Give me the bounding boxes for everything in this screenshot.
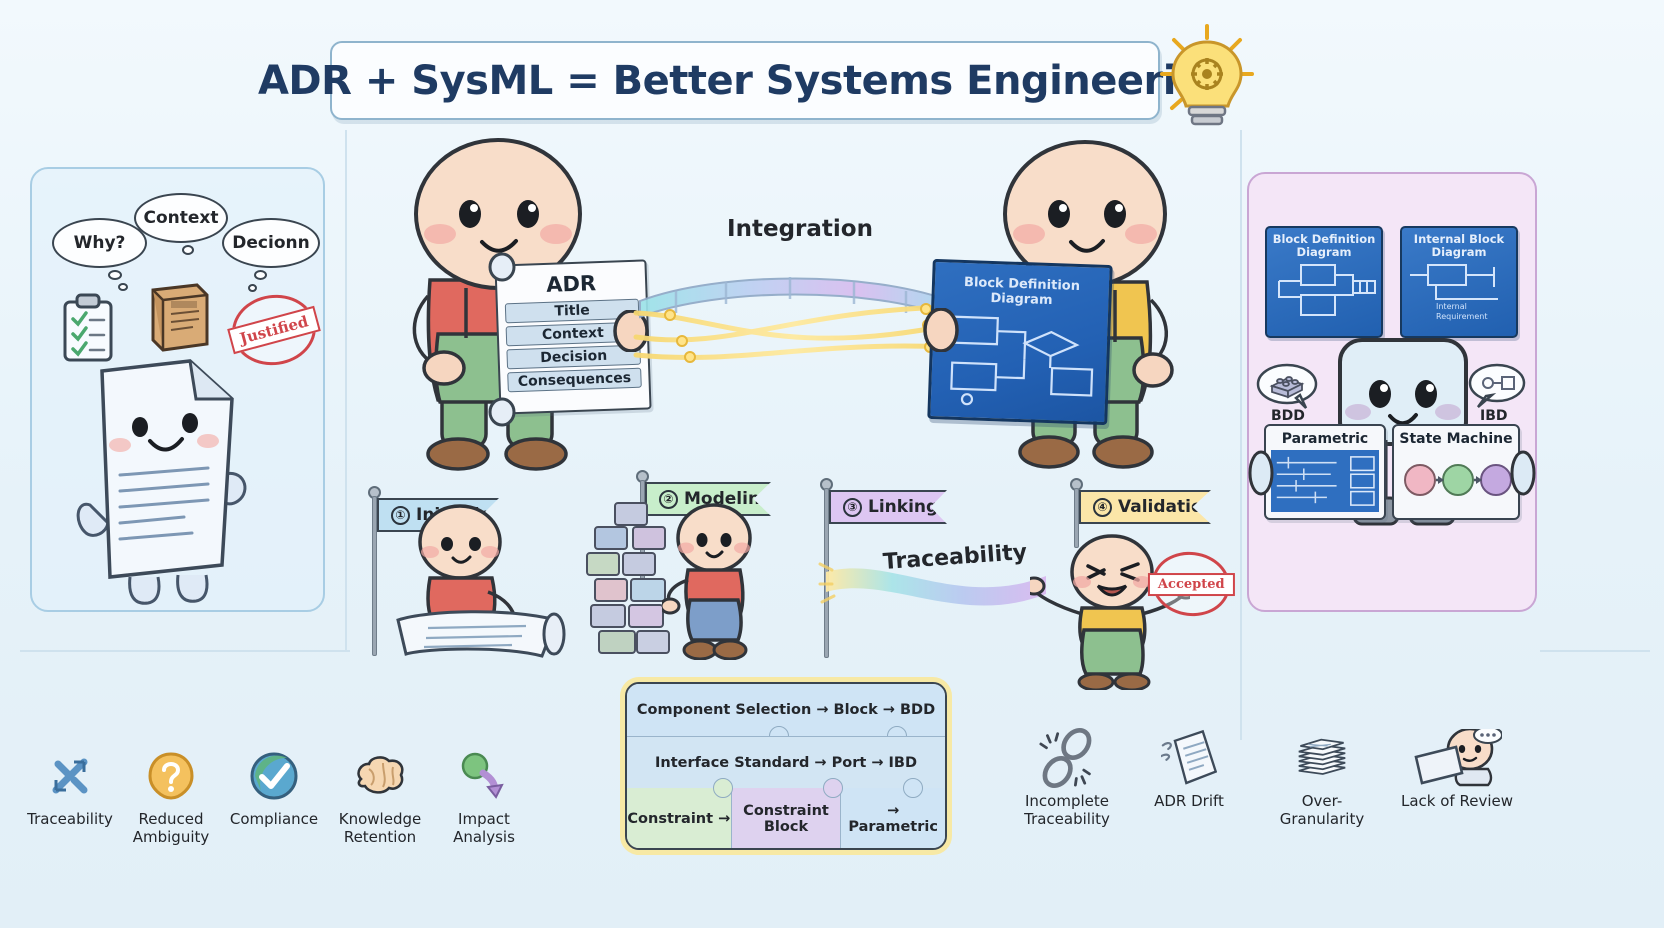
infographic-canvas: ADR + SysML = Better Systems Engineering… <box>0 0 1664 928</box>
puzzle-knob <box>823 778 843 798</box>
thought-bubble-why: Why? <box>52 218 147 268</box>
step-3-label: Linking <box>868 497 938 517</box>
puzzle-row-2-label: Interface Standard → Port → IBD <box>655 755 917 771</box>
benefit-line1: Reduced <box>138 810 203 828</box>
puzzle-row-2: Interface Standard → Port → IBD <box>627 736 945 788</box>
benefit-knowledge-retention-label: Knowledge Retention <box>324 811 436 846</box>
page-title: ADR + SysML = Better Systems Engineering <box>258 58 1232 104</box>
mapping-puzzle-panel: Component Selection → Block → BDD Interf… <box>625 682 947 850</box>
parametric-card: Parametric <box>1264 424 1386 520</box>
risk-lack-of-review: Lack of Review <box>1392 730 1522 828</box>
puzzle-row-1-label: Component Selection → Block → BDD <box>637 702 935 718</box>
question-drop-icon <box>143 748 199 804</box>
benefit-line1: Knowledge <box>339 810 421 828</box>
thought-dot <box>254 270 267 280</box>
kid-cheering-character <box>1030 530 1190 690</box>
risk-adr-drift: ADR Drift <box>1126 730 1252 828</box>
thought-dot <box>108 270 122 280</box>
thought-dot <box>248 284 257 292</box>
parametric-card-title: Parametric <box>1266 426 1384 450</box>
scroll-curl-icon <box>487 252 517 427</box>
lego-speech-bubble-icon <box>1256 362 1318 410</box>
thought-bubble-decision-label: Decionn <box>232 233 309 253</box>
risk-lack-of-review-label: Lack of Review <box>1401 793 1513 811</box>
thought-dot <box>182 245 194 255</box>
bdd-diagram-card: Block Definition Diagram <box>1265 226 1383 338</box>
puzzle-cell-parametric: → Parametric <box>841 788 945 850</box>
clipboard-checklist-icon <box>60 292 116 364</box>
step-3-flag: ③ Linking <box>829 490 947 524</box>
integration-bridge <box>630 255 960 380</box>
benefit-line2: Analysis <box>453 828 515 846</box>
page-title-bar: ADR + SysML = Better Systems Engineering <box>330 41 1160 120</box>
adr-field-consequences: Consequences <box>507 368 642 393</box>
step-4-number: ④ <box>1093 498 1112 517</box>
benefit-reduced-ambiguity: Reduced Ambiguity <box>120 748 222 846</box>
state-machine-card-title: State Machine <box>1394 426 1518 450</box>
risks-row: Incomplete Traceability ADR Drift <box>1008 730 1522 828</box>
benefits-row: Traceability Reduced Ambiguity <box>20 748 534 846</box>
puzzle-cell-constraint: Constraint → <box>627 788 731 850</box>
step-4-label: Validation <box>1118 497 1215 517</box>
guide-line <box>1540 650 1650 652</box>
bdd-tag: BDD <box>1271 408 1305 424</box>
flag-pole <box>372 496 377 656</box>
benefit-compliance-label: Compliance <box>218 811 330 829</box>
benefit-impact-analysis-label: Impact Analysis <box>428 811 540 846</box>
guide-line <box>345 130 347 650</box>
lightbulb-gear-icon <box>1152 22 1262 137</box>
ibd-sub1: Internal <box>1436 302 1467 311</box>
thought-bubble-decision: Decionn <box>222 218 320 268</box>
puzzle-row-3: Constraint → Constraint Block → Parametr… <box>627 788 945 850</box>
kid-building-character <box>662 500 762 660</box>
puzzle-knob <box>713 778 733 798</box>
benefit-compliance: Compliance <box>222 748 326 846</box>
ibd-sub2: Requirement <box>1436 312 1487 321</box>
benefit-line1: Impact <box>458 810 510 828</box>
confused-reader-icon <box>1412 730 1502 786</box>
risk-line2: Traceability <box>1024 810 1110 828</box>
benefit-line2: Retention <box>344 828 416 846</box>
puzzle-cell-constraint-block-line1: Constraint <box>743 803 829 819</box>
benefit-line2: Ambiguity <box>133 828 210 846</box>
ibd-card-title: Internal Block Diagram <box>1402 228 1516 261</box>
benefit-reduced-ambiguity-label: Reduced Ambiguity <box>115 811 227 846</box>
impact-arrow-icon <box>456 748 512 804</box>
guide-line <box>1240 130 1242 650</box>
book-icon <box>145 282 215 354</box>
integration-label: Integration <box>700 216 900 242</box>
benefit-impact-analysis: Impact Analysis <box>434 748 534 846</box>
guide-line <box>20 650 350 652</box>
puzzle-cell-constraint-block-line2: Block <box>764 819 808 835</box>
document-character-icon <box>72 355 262 610</box>
puzzle-cell-constraint-block: Constraint Block <box>731 788 842 850</box>
brain-icon <box>352 748 408 804</box>
risk-over-granularity: Over-Granularity <box>1252 730 1392 828</box>
hand-right-holding <box>922 308 960 352</box>
risk-line1: Incomplete <box>1025 792 1109 810</box>
crossed-arrows-icon <box>42 748 98 804</box>
risk-over-granularity-label: Over-Granularity <box>1266 793 1378 828</box>
step-3-number: ③ <box>843 498 862 517</box>
accepted-stamp-label: Accepted <box>1148 573 1235 596</box>
adr-heading: ADR <box>497 269 646 298</box>
risk-incomplete-traceability: Incomplete Traceability <box>1008 730 1126 828</box>
check-circle-icon <box>246 748 302 804</box>
puzzle-knob <box>903 778 923 798</box>
puzzle-row-1: Component Selection → Block → BDD <box>627 684 945 736</box>
benefit-traceability-label: Traceability <box>14 811 126 829</box>
guide-line <box>1240 650 1242 740</box>
step-4-flag: ④ Validation <box>1079 490 1211 524</box>
thought-bubble-context: Context <box>134 193 228 243</box>
robot-arm-right <box>1510 450 1536 496</box>
benefit-knowledge-retention: Knowledge Retention <box>326 748 434 846</box>
benefit-traceability: Traceability <box>20 748 120 846</box>
risk-incomplete-traceability-label: Incomplete Traceability <box>1011 793 1123 828</box>
thought-bubble-why-label: Why? <box>74 233 126 253</box>
thought-bubble-context-label: Context <box>143 208 218 228</box>
state-machine-card: State Machine <box>1392 424 1520 520</box>
broken-chain-icon <box>1039 730 1095 786</box>
bdd-card-title: Block Definition Diagram <box>1267 228 1381 261</box>
blowing-paper-icon <box>1161 730 1217 786</box>
justified-stamp-label: Justified <box>227 306 321 354</box>
kid-writing-character <box>392 500 572 665</box>
thought-dot <box>118 283 128 291</box>
risk-adr-drift-label: ADR Drift <box>1133 793 1245 811</box>
ibd-diagram-card: Internal Block Diagram Internal Requirem… <box>1400 226 1518 338</box>
paper-stack-icon <box>1294 730 1350 786</box>
robot-arm-left <box>1248 450 1274 496</box>
